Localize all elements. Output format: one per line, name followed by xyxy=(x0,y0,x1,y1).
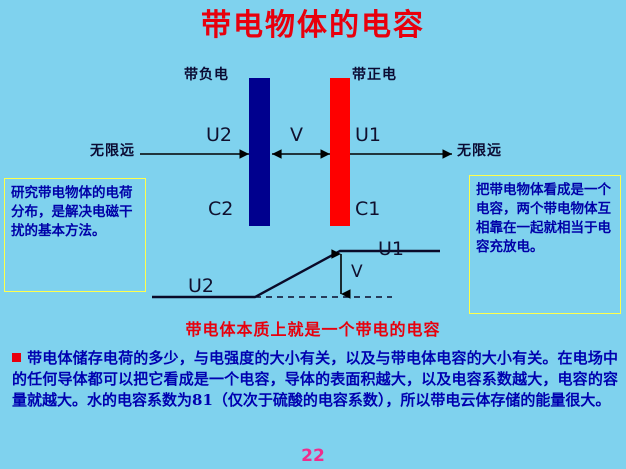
bullet-square-icon xyxy=(12,353,21,362)
note-box-right: 把带电物体看成是一个电容，两个带电物体互相靠在一起就相当于电容充放电。 xyxy=(469,175,621,314)
graph-u1-label: U1 xyxy=(378,238,404,260)
red-caption: 带电体本质上就是一个带电的电容 xyxy=(0,316,626,340)
negative-charged-plate xyxy=(249,78,270,226)
positive-charged-plate xyxy=(330,78,350,226)
potential-u1-label: U1 xyxy=(355,124,381,146)
capacitor-c1-label: C1 xyxy=(355,198,380,220)
positive-plate-label: 带正电 xyxy=(352,64,397,84)
page-number: 22 xyxy=(0,446,626,466)
capacitor-c2-label: C2 xyxy=(208,198,233,220)
right-infinity-label: 无限远 xyxy=(457,140,502,160)
graph-u2-label: U2 xyxy=(188,275,214,297)
body-paragraph-text: 带电体储存电荷的多少，与电强度的大小有关，以及与带电体电容的大小有关。在电场中的… xyxy=(12,349,618,409)
left-infinity-label: 无限远 xyxy=(90,140,135,160)
note-box-left: 研究带电物体的电荷分布，是解决电磁干扰的基本方法。 xyxy=(4,178,146,292)
slide-canvas: 带电物体的电容 带负电 带正电 无限远 无限远 U2 V U1 C2 C1 xyxy=(0,0,626,469)
body-paragraph: 带电体储存电荷的多少，与电强度的大小有关，以及与带电体电容的大小有关。在电场中的… xyxy=(12,348,618,411)
potential-v-label: V xyxy=(290,124,303,146)
page-title: 带电物体的电容 xyxy=(0,8,626,44)
negative-plate-label: 带负电 xyxy=(184,64,229,84)
graph-v-label: V xyxy=(351,262,363,282)
potential-u2-label: U2 xyxy=(206,124,232,146)
